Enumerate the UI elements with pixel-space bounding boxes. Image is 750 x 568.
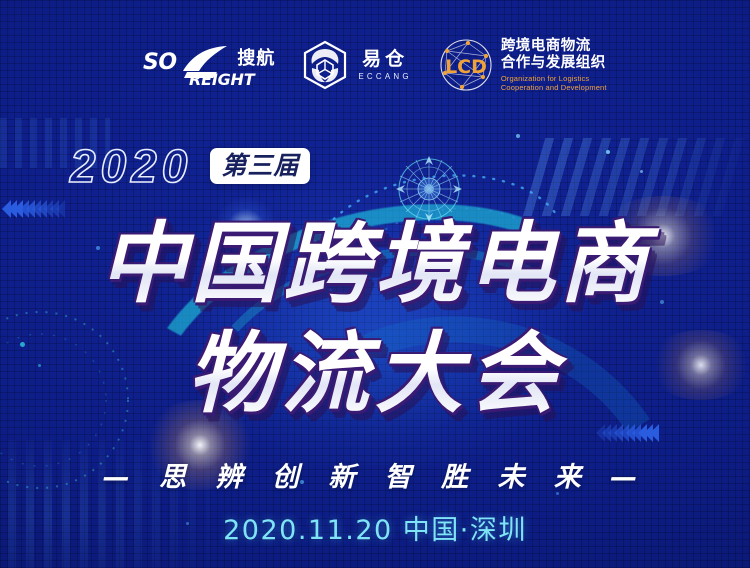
lcd-chinese-line2: 合作与发展组织 (501, 55, 607, 72)
date-location-text: 2020.11.20 中国·深圳 (0, 508, 750, 547)
chevron-left-icon (626, 424, 635, 442)
diagonal-stripes-top-right (523, 138, 750, 216)
chevron-left-icon (8, 200, 17, 218)
headline-line-1: 中国跨境电商 (0, 218, 750, 310)
chevron-left-icon (632, 424, 641, 442)
chevron-left-icon (596, 424, 605, 442)
edition-badge: 第三届 (210, 148, 310, 184)
chevron-left-icon (14, 200, 23, 218)
chevron-left-icon (650, 424, 659, 442)
chevron-left-icon (56, 200, 65, 218)
chevron-left-icon (50, 200, 59, 218)
chevron-left-icon (602, 424, 611, 442)
chevron-row-left (2, 200, 62, 218)
svg-text:SO: SO (143, 50, 177, 75)
sponsor-logo-bar: SO REIGHT 搜航 易仓 ECC (0, 34, 750, 96)
chevron-left-icon (44, 200, 53, 218)
chevron-left-icon (614, 424, 623, 442)
chevron-left-icon (2, 200, 11, 218)
chevron-left-icon (26, 200, 35, 218)
headline-line-2: 物流大会 (0, 328, 750, 420)
year-label: 2020 (70, 143, 192, 189)
logo-eccang[interactable]: 易仓 ECCANG (301, 40, 411, 90)
logo-lcd[interactable]: LCD 跨境电商物流 合作与发展组织 Organization for Logi… (438, 37, 607, 93)
chevron-left-icon (638, 424, 647, 442)
chevron-row-right (596, 424, 656, 442)
lcd-network-globe-icon: LCD (438, 37, 494, 93)
chevron-left-icon (32, 200, 41, 218)
edition-badge-label: 第三届 (221, 153, 299, 178)
sparkle-dot (516, 134, 520, 138)
chevron-left-icon (38, 200, 47, 218)
sparkle-dot (640, 170, 643, 173)
svg-text:REIGHT: REIGHT (189, 70, 256, 87)
eccang-english-label: ECCANG (358, 72, 411, 81)
chevron-left-icon (620, 424, 629, 442)
sparkle-dot (606, 150, 610, 154)
logo-sofreight[interactable]: SO REIGHT 搜航 (143, 43, 275, 87)
lcd-english-line2: Cooperation and Development (501, 83, 607, 92)
svg-text:LCD: LCD (445, 56, 487, 78)
lcd-english-line1: Organization for Logistics (501, 74, 607, 83)
sofreight-chinese-label: 搜航 (237, 44, 275, 70)
chevron-left-icon (644, 424, 653, 442)
chevron-left-icon (608, 424, 617, 442)
year-edition-row: 2020 第三届 (70, 143, 310, 189)
conference-poster: SO REIGHT 搜航 易仓 ECC (0, 0, 750, 568)
eccang-chinese-label: 易仓 (362, 49, 408, 70)
chevron-left-icon (20, 200, 29, 218)
eccang-hexagon-icon (301, 40, 349, 90)
lcd-chinese-line1: 跨境电商物流 (501, 38, 607, 55)
slogan-text: — 思 辨 创 新 智 胜 未 来 — (0, 455, 750, 494)
